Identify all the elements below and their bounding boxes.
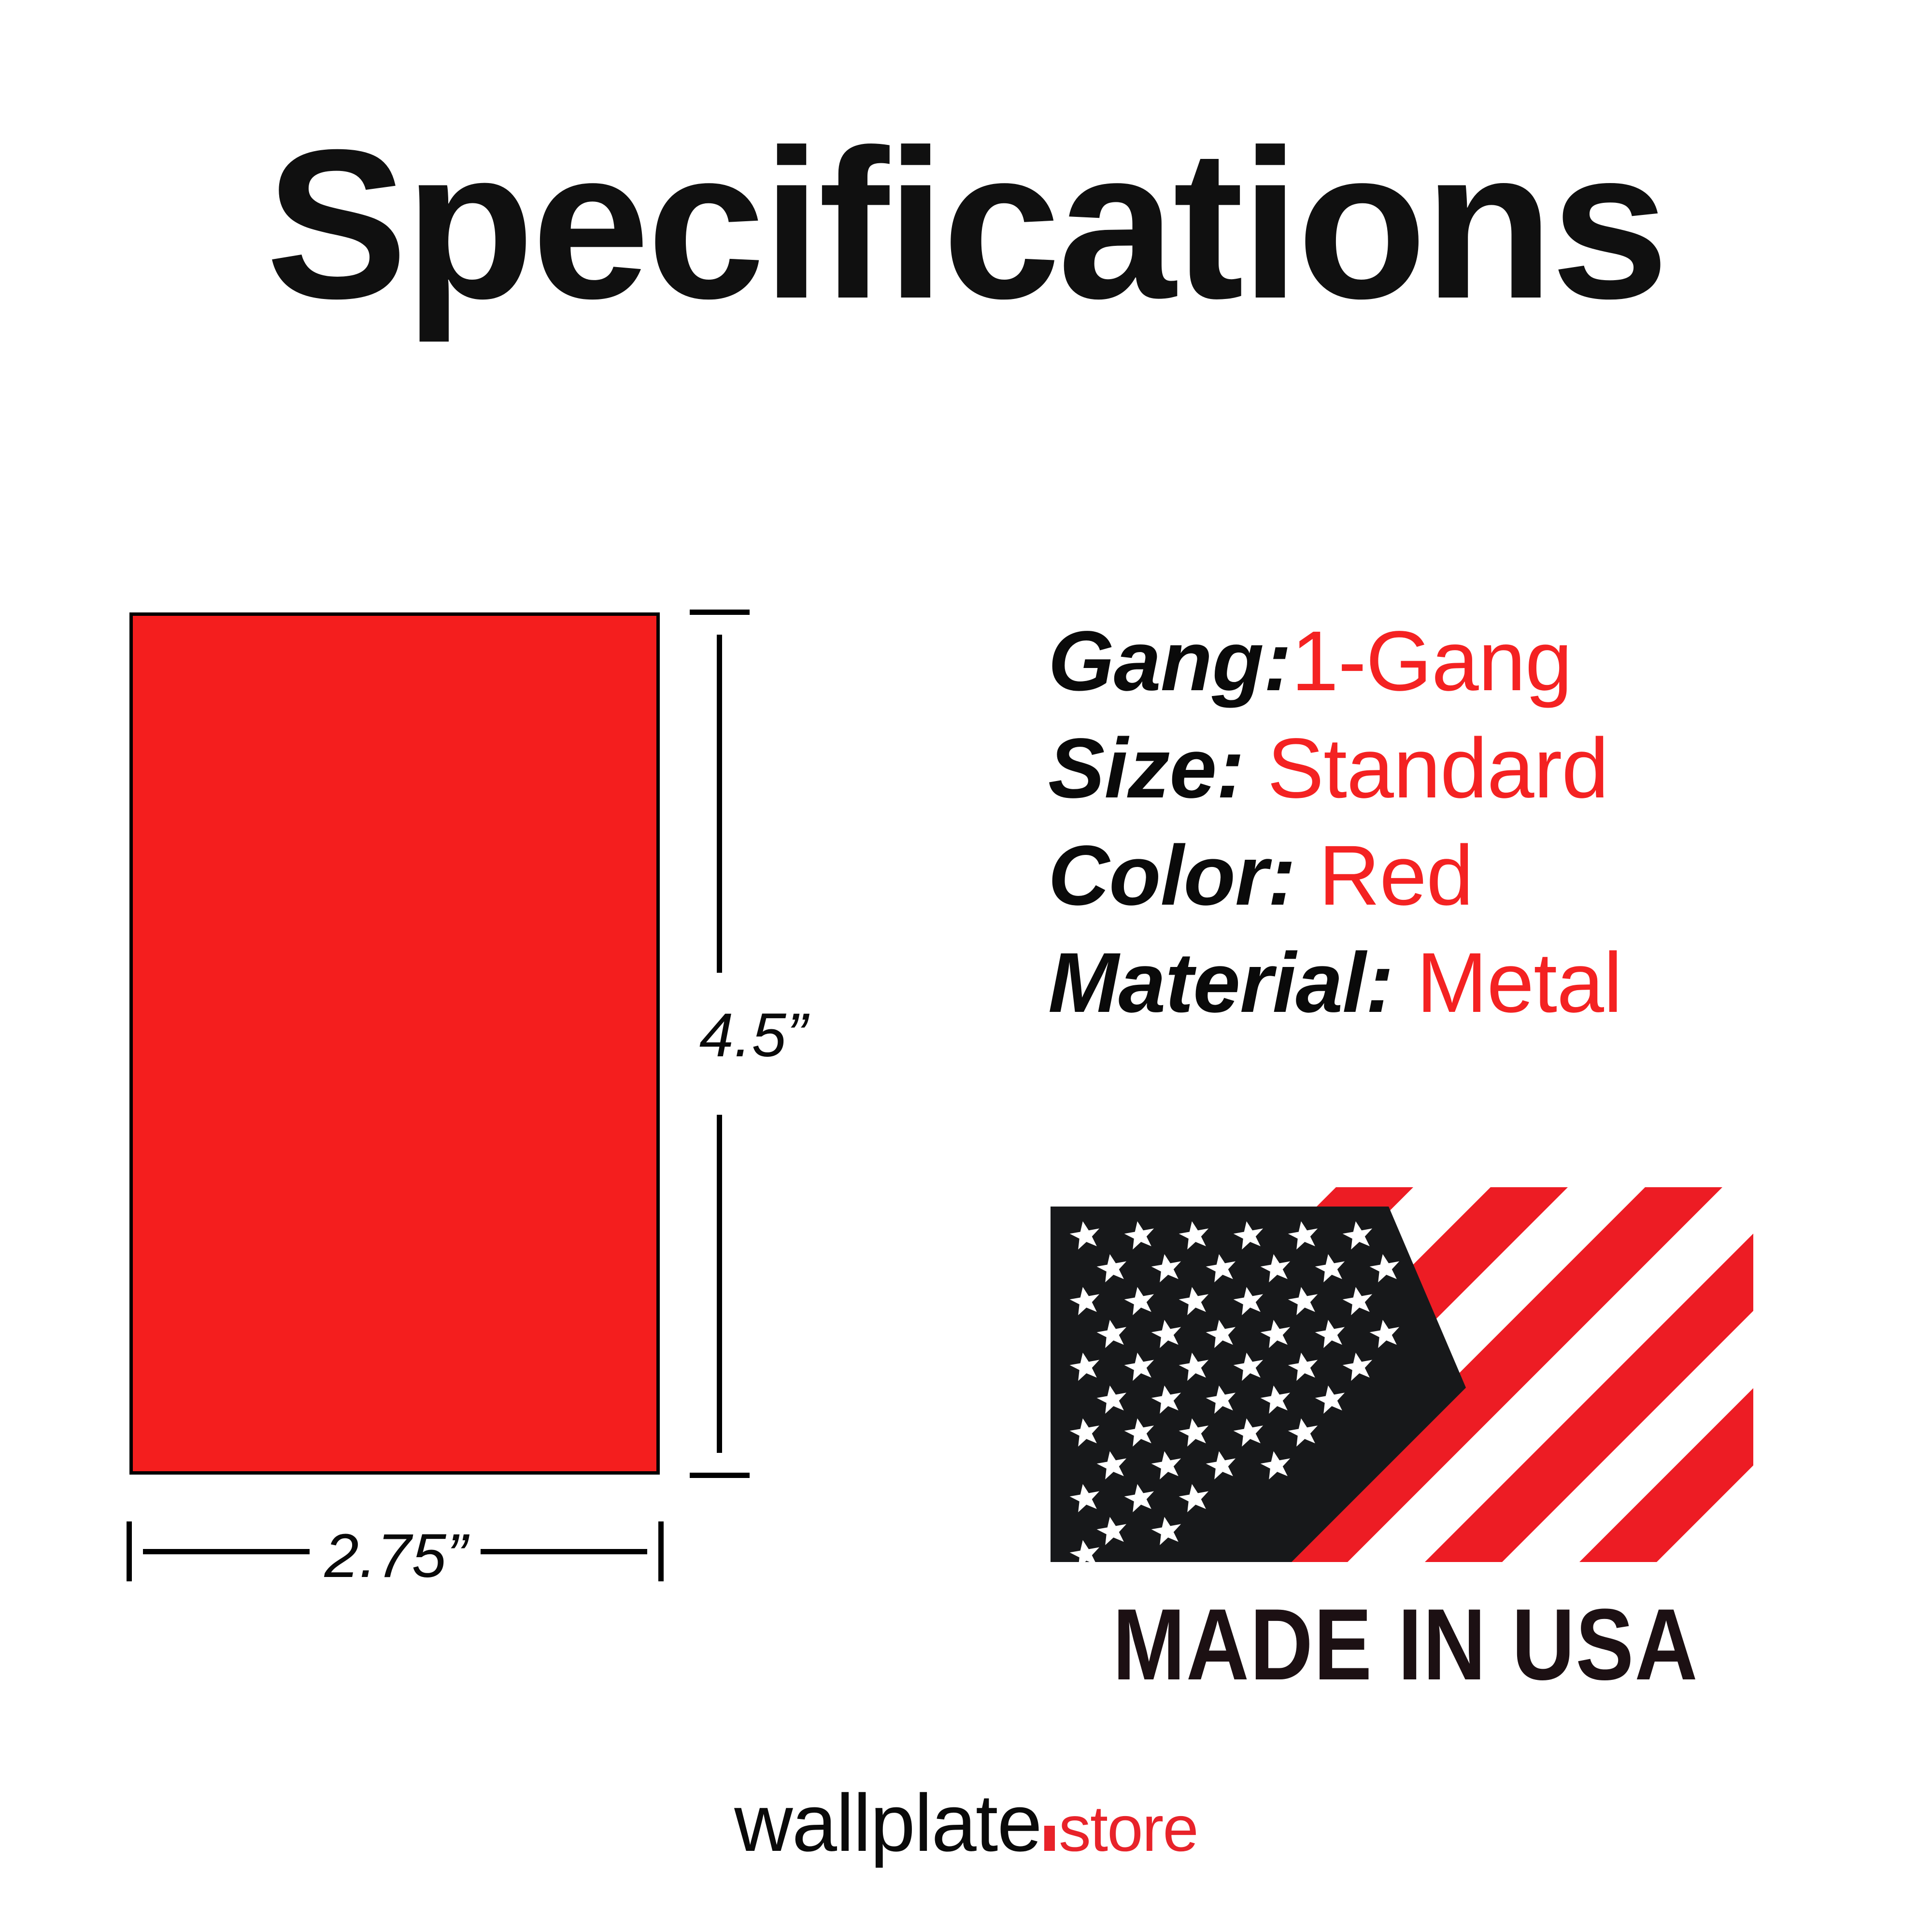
brand-logo-tld: store [1059, 1793, 1198, 1865]
spec-label-gang: Gang: [1048, 614, 1291, 709]
height-dimension-stem-upper [717, 635, 722, 973]
spec-row-color: Color: Red [1048, 822, 1869, 929]
spec-value-gang: 1-Gang [1291, 614, 1572, 709]
width-dimension-cap-left [127, 1521, 132, 1581]
brand-logo-word: wallplate [734, 1777, 1041, 1868]
spec-row-size: Size: Standard [1048, 715, 1869, 822]
specifications-list: Gang:1-Gang Size: Standard Color: Red Ma… [1048, 608, 1869, 1037]
height-dimension-label: 4.5” [674, 1000, 833, 1071]
width-dimension-label: 2.75” [290, 1520, 502, 1591]
spec-value-color: Red [1319, 828, 1473, 923]
spec-value-size: Standard [1267, 721, 1608, 816]
brand-logo-dot [1044, 1826, 1055, 1851]
brand-logo[interactable]: wallplatestore [0, 1782, 1932, 1863]
usa-flag-icon [1051, 1187, 1753, 1562]
width-dimension-cap-right [658, 1521, 664, 1581]
spec-row-gang: Gang:1-Gang [1048, 608, 1869, 715]
spec-label-color: Color: [1048, 828, 1319, 923]
spec-label-material: Material: [1048, 936, 1417, 1030]
height-dimension-cap-top [690, 610, 750, 615]
height-dimension-stem-lower [717, 1115, 722, 1453]
spec-value-material: Metal [1417, 936, 1622, 1030]
product-color-swatch [129, 612, 660, 1475]
flag-canton [1051, 1207, 1466, 1484]
made-in-usa-caption: MADE IN USA [1081, 1594, 1730, 1695]
product-dimension-diagram: 4.5” 2.75” [0, 0, 966, 1932]
height-dimension-cap-bottom [690, 1473, 750, 1478]
width-dimension-stem-right [481, 1549, 647, 1554]
spec-label-size: Size: [1048, 721, 1267, 816]
width-dimension-stem-left [143, 1549, 310, 1554]
spec-row-material: Material: Metal [1048, 929, 1869, 1037]
